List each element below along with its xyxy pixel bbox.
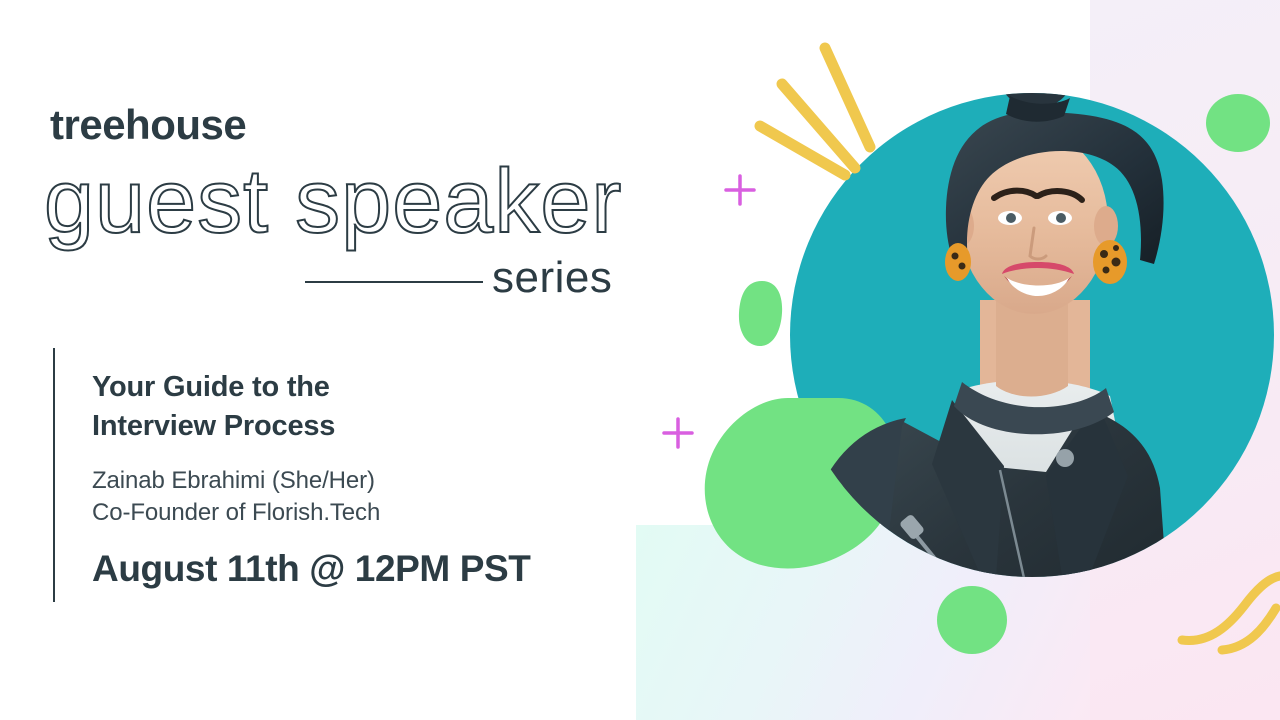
series-divider-rule: [305, 281, 483, 283]
green-bean-small: [739, 281, 782, 346]
event-details: Your Guide to the Interview Process Zain…: [92, 368, 632, 590]
speaker-name: Zainab Ebrahimi (She/Her): [92, 465, 632, 497]
talk-title-line-2: Interview Process: [92, 407, 632, 446]
green-circle-top-right: [1206, 94, 1270, 152]
series-label: series: [492, 256, 612, 300]
treehouse-wordmark: treehouse: [50, 104, 246, 146]
yellow-swoosh-lines: [1182, 576, 1280, 650]
green-circle-bottom: [937, 586, 1007, 654]
speaker-role: Co-Founder of Florish.Tech: [92, 497, 632, 529]
detail-accent-rule: [53, 348, 55, 602]
event-datetime: August 11th @ 12PM PST: [92, 549, 632, 590]
talk-title-line-1: Your Guide to the: [92, 368, 632, 407]
promo-slide: treehouse guest speaker series Your Guid…: [0, 0, 1280, 720]
yellow-spark-strokes: [760, 48, 870, 175]
talk-title: Your Guide to the Interview Process: [92, 368, 632, 445]
headline-guest-speaker: guest speaker: [44, 157, 622, 247]
